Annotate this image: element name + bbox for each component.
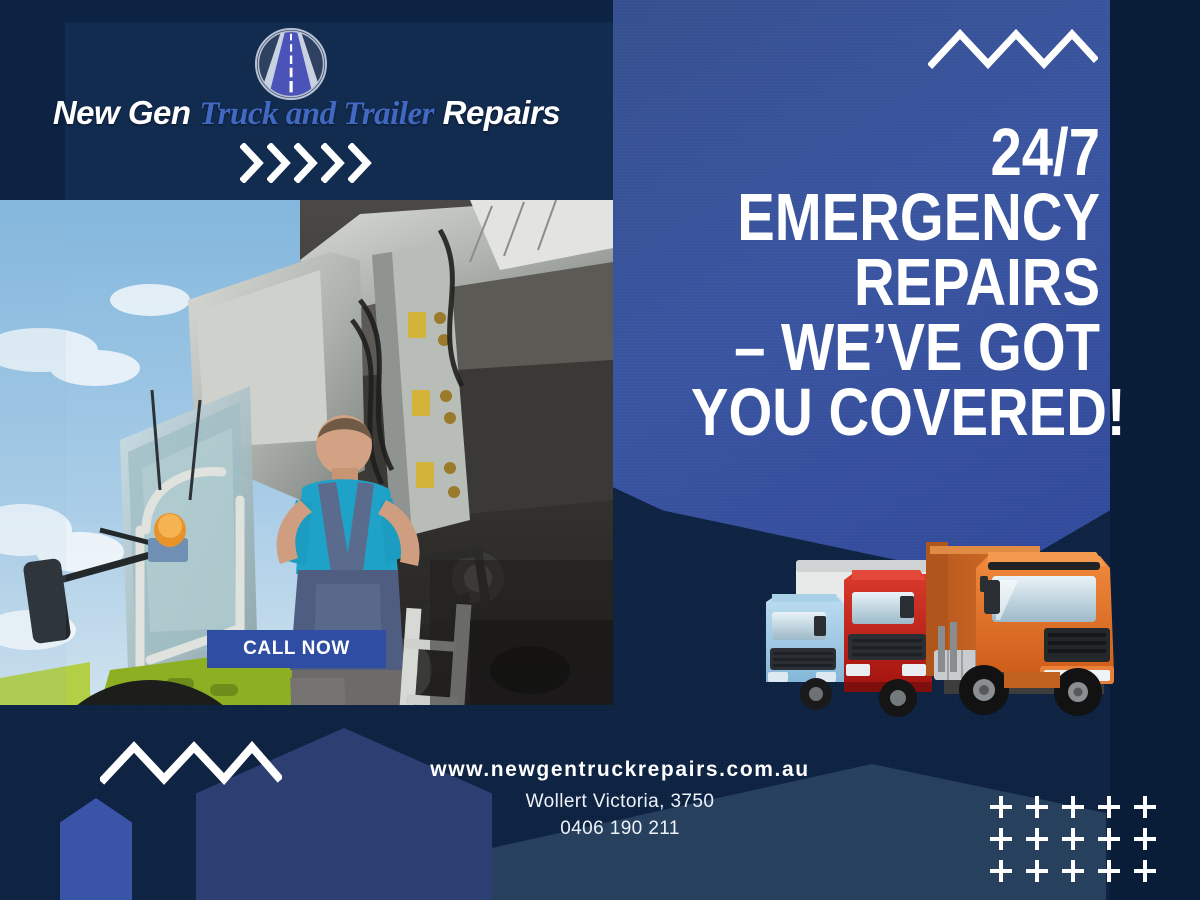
brand-wordmark: New Gen Truck and Trailer Repairs: [0, 94, 613, 133]
business-address: Wollert Victoria, 3750: [300, 791, 940, 813]
plus-icon: [1092, 792, 1128, 824]
chevron-right-icon: [240, 143, 266, 183]
header-band: New Gen Truck and Trailer Repairs: [0, 0, 613, 200]
zigzag-line-icon: [928, 24, 1098, 70]
plus-icon: [1020, 792, 1056, 824]
chevron-row: [0, 143, 613, 183]
plus-icon: [1056, 792, 1092, 824]
plus-icon: [1056, 856, 1092, 888]
plus-icon: [1128, 824, 1164, 856]
chevron-right-icon: [267, 143, 293, 183]
plus-icon: [1128, 792, 1164, 824]
contact-block: www.newgentruckrepairs.com.au Wollert Vi…: [300, 758, 940, 840]
website-url[interactable]: www.newgentruckrepairs.com.au: [300, 758, 940, 782]
headline-text: 24/7 EMERGENCY REPAIRS – WE’VE GOT YOU C…: [691, 120, 1100, 445]
advertisement-poster: New Gen Truck and Trailer Repairs: [0, 0, 1200, 900]
plus-icon: [1092, 856, 1128, 888]
zigzag-line-icon: [100, 737, 282, 785]
plus-icon: [984, 792, 1020, 824]
headline-line-5: YOU COVERED!: [691, 380, 1100, 445]
headline-line-4: – WE’VE GOT: [691, 315, 1100, 380]
plus-icon: [1020, 824, 1056, 856]
background-right-strip: [1110, 0, 1200, 900]
phone-number[interactable]: 0406 190 211: [300, 818, 940, 840]
headline-line-1: 24/7: [691, 120, 1100, 185]
plus-icon: [1056, 824, 1092, 856]
headline-line-3: REPAIRS: [691, 250, 1100, 315]
chevron-right-icon: [294, 143, 320, 183]
headline-line-2: EMERGENCY: [691, 185, 1100, 250]
road-circle-icon: [255, 28, 327, 100]
three-trucks-graphic: [748, 532, 1126, 722]
plus-icon: [984, 824, 1020, 856]
plus-icon: [1092, 824, 1128, 856]
brand-name-part1: New Gen: [53, 94, 199, 131]
plus-grid-decoration: [984, 792, 1164, 888]
chevron-right-icon: [321, 143, 347, 183]
photo-left-highlight: [0, 200, 66, 705]
plus-icon: [984, 856, 1020, 888]
chevron-right-icon: [348, 143, 374, 183]
brand-name-part2: Truck and Trailer: [199, 96, 434, 132]
call-now-button[interactable]: CALL NOW: [207, 630, 386, 668]
brand-name-part3: Repairs: [434, 94, 560, 131]
plus-icon: [1128, 856, 1164, 888]
plus-icon: [1020, 856, 1056, 888]
